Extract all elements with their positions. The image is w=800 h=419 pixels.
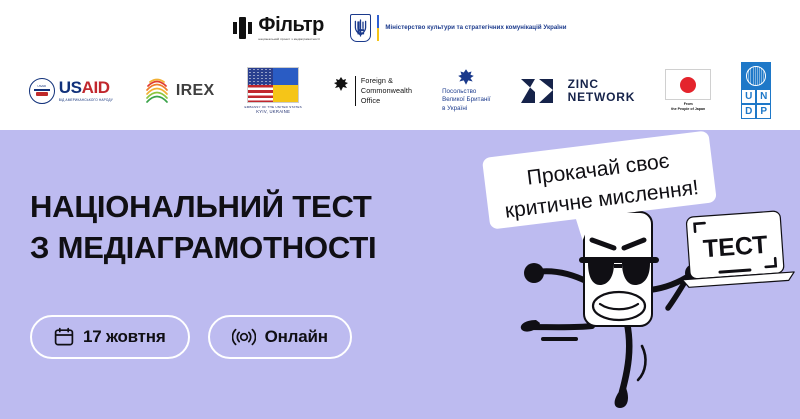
undp-letter-u: U: [741, 89, 756, 104]
badge-format[interactable]: Онлайн: [208, 315, 352, 359]
logo-row-partners: USAID USAID ВІД АМЕРИКАНСЬКОГО НАРОДУ: [0, 62, 800, 119]
calendar-icon: [54, 327, 74, 347]
filtr-wordmark: Фільтр: [258, 15, 323, 35]
logo-row-primary: Фільтр національний проєкт з медіаграмот…: [0, 14, 800, 42]
logo-irex: IREX: [143, 76, 215, 106]
logo-zinc-network: ZINC NETWORK: [521, 78, 636, 104]
usaid-subtitle: ВІД АМЕРИКАНСЬКОГО НАРОДУ: [59, 98, 113, 102]
ministry-label: Міністерство культури та стратегічних ко…: [385, 24, 566, 32]
logo-british-embassy: Посольство Великої Британії в Україні: [442, 68, 491, 114]
test-card-label: ТЕСТ: [702, 231, 768, 263]
mascot-illustration: ТЕСТ: [480, 130, 800, 419]
usaid-word-aid: AID: [82, 78, 110, 97]
mascot-svg: ТЕСТ: [480, 130, 800, 419]
undp-letter-d: D: [741, 104, 756, 119]
zinc-word-line-2: NETWORK: [568, 91, 636, 104]
filtr-mark-icon: [233, 17, 253, 39]
ministry-divider: [377, 15, 380, 41]
irex-wordmark: IREX: [176, 82, 215, 100]
usaid-wordmark: USAID: [59, 79, 113, 96]
japan-line-2: the People of Japan: [671, 107, 705, 112]
royal-crest-icon: [456, 68, 476, 86]
fco-rule: [355, 76, 356, 106]
us-embassy-caption: EMBASSY OF THE UNITED STATES KYIV, UKRAI…: [244, 105, 301, 113]
broadcast-icon: [232, 327, 256, 347]
zinc-mark-icon: [521, 79, 561, 103]
logo-ministry-of-culture: 𑀊 Міністерство культури та стратегічних …: [350, 14, 567, 42]
badge-date-label: 17 жовтня: [83, 327, 166, 347]
logo-japan: From the People of Japan: [665, 69, 711, 112]
zinc-wordmark: ZINC NETWORK: [568, 78, 636, 104]
un-globe-icon: [741, 62, 771, 89]
test-card: ТЕСТ: [678, 210, 795, 288]
info-badges: 17 жовтня Онлайн: [30, 315, 352, 359]
tryzub-shield-icon: 𑀊: [350, 14, 371, 42]
page-title: НАЦІОНАЛЬНИЙ ТЕСТ З МЕДІАГРАМОТНОСТІ: [30, 186, 376, 268]
us-embassy-line-2: KYIV, UKRAINE: [244, 110, 301, 114]
hero-section: НАЦІОНАЛЬНИЙ ТЕСТ З МЕДІАГРАМОТНОСТІ 17 …: [0, 130, 800, 419]
logo-us-embassy: EMBASSY OF THE UNITED STATES KYIV, UKRAI…: [244, 67, 301, 113]
undp-letters: U N D P: [741, 89, 771, 119]
tryzub-svg: [354, 19, 367, 37]
us-ua-flag-icon: [247, 67, 299, 103]
logo-fco: Foreign & Commonwealth Office: [332, 76, 412, 106]
filtr-subtitle: національний проєкт з медіаграмотності: [258, 37, 323, 41]
british-embassy-label: Посольство Великої Британії в Україні: [442, 88, 491, 114]
promo-banner: Фільтр національний проєкт з медіаграмот…: [0, 0, 800, 419]
logo-filtr: Фільтр національний проєкт з медіаграмот…: [233, 15, 323, 41]
mascot-legs: [521, 320, 646, 408]
usaid-word-us: US: [59, 78, 82, 97]
undp-letter-n: N: [756, 89, 771, 104]
zinc-word-line-1: ZINC: [568, 78, 636, 91]
undp-letter-p: P: [756, 104, 771, 119]
irex-mark-icon: [143, 76, 171, 106]
badge-date[interactable]: 17 жовтня: [30, 315, 190, 359]
logo-usaid: USAID USAID ВІД АМЕРИКАНСЬКОГО НАРОДУ: [29, 78, 113, 104]
japan-flag-icon: [665, 69, 711, 100]
usaid-seal-icon: USAID: [29, 78, 55, 104]
badge-format-label: Онлайн: [265, 327, 328, 347]
logo-undp: U N D P: [741, 62, 771, 119]
fco-label: Foreign & Commonwealth Office: [361, 76, 412, 106]
japan-caption: From the People of Japan: [671, 102, 705, 112]
mascot-body: [582, 212, 656, 326]
partner-logo-bar: Фільтр національний проєкт з медіаграмот…: [0, 0, 800, 130]
royal-crest-icon: [332, 76, 350, 92]
